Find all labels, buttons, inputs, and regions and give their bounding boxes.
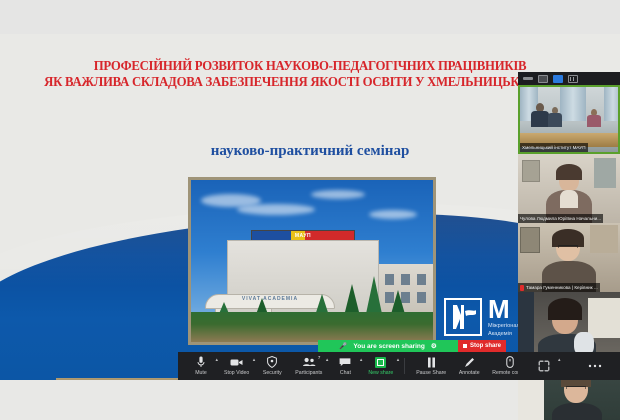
participant-name: Чулова Людмила Юріївна Начальни...	[518, 214, 603, 223]
pause-share-button[interactable]: Pause Share	[410, 352, 452, 380]
curtain	[604, 87, 620, 121]
stop-square-icon	[463, 344, 467, 348]
participants-button[interactable]: 7 Participants ▴	[289, 352, 328, 380]
layout-view-bar	[518, 72, 620, 85]
pause-share-label: Pause Share	[416, 370, 446, 376]
cloud-shape	[237, 204, 315, 215]
photo-ground	[191, 312, 433, 342]
ellipsis-icon	[588, 360, 602, 372]
participant-name: Тамара Гуменникова | Керівник ...	[518, 283, 600, 292]
mute-button[interactable]: Mute ▴	[184, 352, 218, 380]
participant-tile[interactable]: Чулова Людмила Юріївна Начальни...	[518, 154, 620, 223]
maup-emblem-icon	[444, 298, 482, 336]
microphone-icon	[197, 356, 205, 368]
participants-strip: Хмельницький інститут МАУП Чулова Людмил…	[518, 72, 620, 362]
participant-tile[interactable]: Хмельницький інститут МАУП	[518, 85, 620, 154]
stop-video-button[interactable]: Stop Video ▴	[218, 352, 255, 380]
cloud-shape	[369, 210, 417, 219]
curtain	[560, 87, 586, 121]
video-feed	[518, 292, 620, 361]
stop-share-label: Stop share	[470, 343, 501, 349]
toolbar-tail: ▴	[518, 352, 620, 380]
slide-photo: МАУП VIVAT ACADEMIA	[188, 177, 436, 345]
active-speaker-icon[interactable]	[538, 75, 548, 83]
stop-video-label: Stop Video	[224, 370, 249, 376]
participants-count-badge: 7	[318, 355, 321, 360]
new-share-button[interactable]: New share ▴	[362, 352, 399, 380]
maup-logo: M Міжрегіональна Академія	[444, 296, 529, 337]
chat-bubble-icon	[339, 356, 351, 368]
mute-label: Mute	[195, 370, 207, 376]
screen-sharing-bar: 🎤 You are screen sharing ⚙ Stop share	[318, 340, 508, 352]
share-screen-icon	[375, 356, 386, 368]
sharing-status-label: You are screen sharing	[353, 343, 424, 350]
chevron-up-icon[interactable]: ▴	[558, 357, 561, 363]
shield-icon	[267, 356, 277, 368]
stop-share-button[interactable]: Stop share	[458, 340, 506, 352]
annotate-label: Annotate	[459, 370, 480, 376]
pause-icon	[427, 356, 436, 368]
apps-icon	[538, 360, 550, 372]
toolbar-divider	[404, 358, 405, 374]
video-feed	[518, 223, 620, 292]
video-feed	[518, 154, 620, 223]
slide-top-band	[0, 0, 620, 34]
chevron-up-icon[interactable]: ▴	[397, 357, 400, 363]
video-camera-icon	[230, 356, 243, 368]
participant-name-text: Хмельницький інститут МАУП	[522, 145, 586, 150]
gallery-view-icon[interactable]	[553, 75, 563, 83]
chat-label: Chat	[340, 370, 351, 376]
more-button-tail[interactable]	[578, 352, 612, 380]
mouse-icon	[506, 356, 514, 368]
security-label: Security	[263, 370, 282, 376]
participant-tile[interactable]: Галина Оля	[518, 292, 620, 361]
annotate-button[interactable]: Annotate	[452, 352, 486, 380]
security-button[interactable]: Security	[255, 352, 289, 380]
zoom-meeting-window: ПРОФЕСІЙНИЙ РОЗВИТОК НАУКОВО-ПЕДАГОГІЧНИ…	[0, 0, 620, 420]
cloud-shape	[311, 190, 365, 199]
chat-button[interactable]: Chat ▴	[328, 352, 362, 380]
participants-label: Participants	[295, 370, 322, 376]
pencil-icon	[464, 356, 475, 368]
new-share-label: New share	[368, 370, 393, 376]
sharing-options-icon: ⚙	[431, 342, 437, 350]
participant-tile[interactable]: Тамара Гуменникова | Керівник ...	[518, 223, 620, 292]
apps-button-tail[interactable]: ▴	[527, 352, 561, 380]
grid-view-icon[interactable]	[568, 75, 578, 83]
microphone-icon: 🎤	[339, 342, 347, 350]
participant-name-text: Чулова Людмила Юріївна Начальни...	[520, 216, 601, 221]
participant-name-text: Тамара Гуменникова | Керівник ...	[526, 285, 598, 290]
sharing-status: 🎤 You are screen sharing ⚙	[318, 340, 458, 352]
muted-microphone-icon	[520, 285, 524, 291]
participant-name: Хмельницький інститут МАУП	[520, 143, 588, 152]
participants-icon	[302, 356, 316, 368]
minimize-icon[interactable]	[523, 77, 533, 80]
